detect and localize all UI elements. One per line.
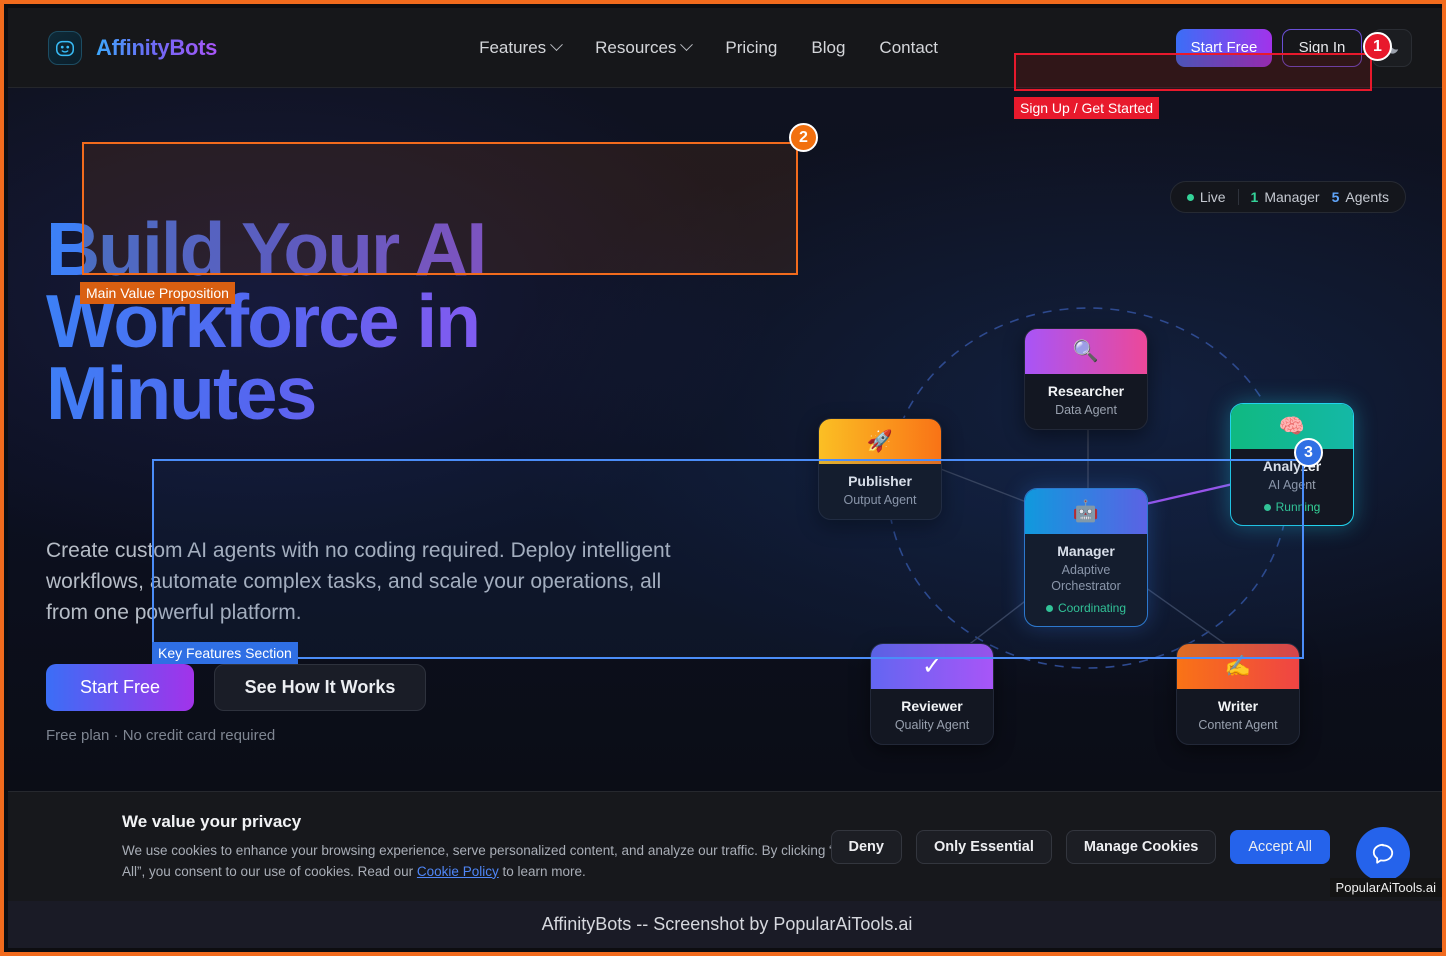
agent-status-label: Coordinating — [1058, 601, 1126, 615]
browser-screenshot: AffinityBots Features Resources Pricing … — [0, 0, 1446, 956]
annotation-label-2: Main Value Proposition — [80, 282, 235, 304]
see-how-it-works-button[interactable]: See How It Works — [214, 664, 426, 711]
agent-card-analyzer[interactable]: 🧠 Analyzer AI Agent Running — [1230, 403, 1354, 526]
cookie-consent-banner: We value your privacy We use cookies to … — [8, 791, 1446, 901]
agent-subtitle: Quality Agent — [875, 717, 989, 733]
robot-icon: 🤖 — [1025, 489, 1147, 534]
annotation-badge-1: 1 — [1363, 32, 1392, 61]
cookie-body-part2: to learn more. — [499, 864, 586, 879]
card-body: Researcher Data Agent — [1025, 374, 1147, 429]
page-title: Build Your AI Workforce in Minutes — [46, 213, 606, 429]
agent-title: Publisher — [823, 473, 937, 489]
annotation-badge-2: 2 — [789, 123, 818, 152]
hero-cta-note: Free plan · No credit card required — [46, 727, 275, 744]
nav-item-pricing[interactable]: Pricing — [725, 38, 777, 58]
annotation-label-1: Sign Up / Get Started — [1014, 97, 1159, 119]
status-dot-icon — [1264, 504, 1271, 511]
hero-cta-row: Start Free See How It Works — [46, 664, 426, 711]
writing-hand-icon: ✍️ — [1177, 644, 1299, 689]
agent-title: Manager — [1029, 543, 1143, 559]
agent-card-researcher[interactable]: 🔍 Researcher Data Agent — [1024, 328, 1148, 430]
cookie-text: We value your privacy We use cookies to … — [122, 812, 882, 882]
nav-item-resources[interactable]: Resources — [595, 38, 691, 58]
card-body: Analyzer AI Agent Running — [1231, 449, 1353, 525]
screenshot-caption: AffinityBots -- Screenshot by PopularAiT… — [8, 901, 1446, 948]
agent-status: Coordinating — [1029, 601, 1143, 615]
chevron-down-icon — [681, 38, 694, 51]
card-body: Manager Adaptive Orchestrator Coordinati… — [1025, 534, 1147, 626]
agent-status-label: Running — [1276, 500, 1321, 514]
brand-logo[interactable]: AffinityBots — [48, 31, 217, 65]
main-nav: Features Resources Pricing Blog Contact — [479, 38, 938, 58]
nav-label: Resources — [595, 38, 676, 58]
agent-title: Analyzer — [1235, 458, 1349, 474]
robot-face-icon — [48, 31, 82, 65]
cookie-title: We value your privacy — [122, 812, 882, 832]
nav-item-contact[interactable]: Contact — [879, 38, 938, 58]
card-body: Publisher Output Agent — [819, 464, 941, 519]
chevron-down-icon — [550, 38, 563, 51]
nav-item-features[interactable]: Features — [479, 38, 561, 58]
nav-label: Features — [479, 38, 546, 58]
magnifier-icon: 🔍 — [1025, 329, 1147, 374]
agent-network-diagram: 🔍 Researcher Data Agent 🚀 Publisher Outp… — [798, 198, 1438, 778]
only-essential-button[interactable]: Only Essential — [916, 830, 1052, 864]
brand-name: AffinityBots — [96, 35, 217, 61]
annotation-label-3: Key Features Section — [152, 642, 298, 664]
status-dot-icon — [1046, 605, 1053, 612]
brain-icon: 🧠 — [1231, 404, 1353, 449]
agent-subtitle: Adaptive Orchestrator — [1029, 562, 1143, 594]
watermark-label: PopularAiTools.ai — [1330, 878, 1442, 897]
chat-widget-button[interactable] — [1356, 827, 1410, 881]
cookie-buttons: Deny Only Essential Manage Cookies Accep… — [831, 830, 1331, 864]
agent-subtitle: Data Agent — [1029, 402, 1143, 418]
agent-subtitle: Content Agent — [1181, 717, 1295, 733]
nav-item-blog[interactable]: Blog — [811, 38, 845, 58]
header-sign-in-button[interactable]: Sign In — [1282, 29, 1362, 67]
agent-card-manager[interactable]: 🤖 Manager Adaptive Orchestrator Coordina… — [1024, 488, 1148, 627]
cookie-body: We use cookies to enhance your browsing … — [122, 840, 882, 882]
manage-cookies-button[interactable]: Manage Cookies — [1066, 830, 1216, 864]
chat-bubble-icon — [1370, 841, 1396, 867]
agent-title: Reviewer — [875, 698, 989, 714]
agent-card-reviewer[interactable]: ✓ Reviewer Quality Agent — [870, 643, 994, 745]
header-start-free-button[interactable]: Start Free — [1176, 29, 1272, 67]
card-body: Reviewer Quality Agent — [871, 689, 993, 744]
checkmark-icon: ✓ — [871, 644, 993, 689]
hero-section: Build Your AI Workforce in Minutes Creat… — [8, 88, 1446, 793]
rocket-icon: 🚀 — [819, 419, 941, 464]
deny-button[interactable]: Deny — [831, 830, 902, 864]
hero-start-free-button[interactable]: Start Free — [46, 664, 194, 711]
agent-card-writer[interactable]: ✍️ Writer Content Agent — [1176, 643, 1300, 745]
accept-all-button[interactable]: Accept All — [1230, 830, 1330, 864]
agent-subtitle: AI Agent — [1235, 477, 1349, 493]
agent-card-publisher[interactable]: 🚀 Publisher Output Agent — [818, 418, 942, 520]
site-header: AffinityBots Features Resources Pricing … — [8, 8, 1446, 88]
agent-title: Researcher — [1029, 383, 1143, 399]
card-body: Writer Content Agent — [1177, 689, 1299, 744]
annotation-badge-3: 3 — [1294, 438, 1323, 467]
agent-title: Writer — [1181, 698, 1295, 714]
agent-subtitle: Output Agent — [823, 492, 937, 508]
agent-status: Running — [1235, 500, 1349, 514]
cookie-policy-link[interactable]: Cookie Policy — [417, 864, 499, 879]
hero-subtitle: Create custom AI agents with no coding r… — [46, 535, 686, 628]
